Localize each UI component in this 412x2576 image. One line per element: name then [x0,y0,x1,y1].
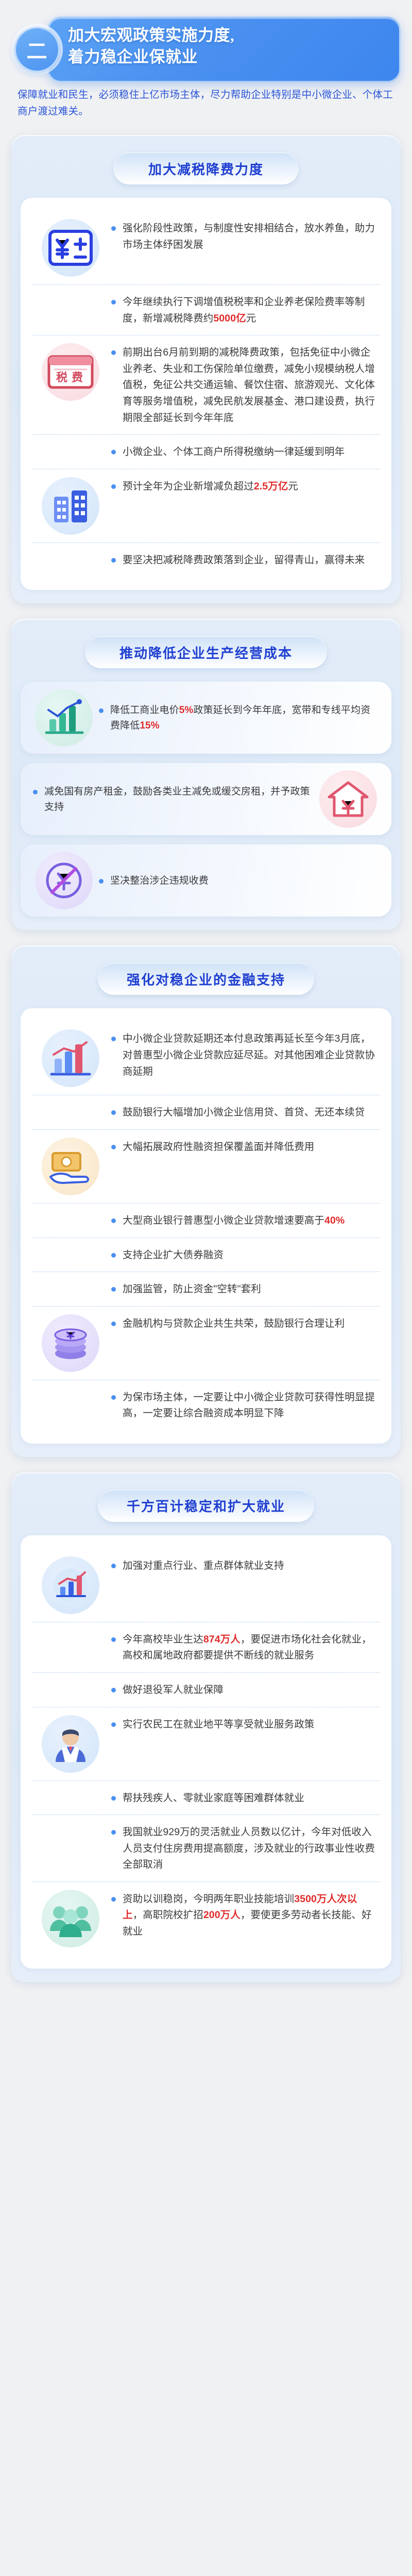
bullet-icon-slot: 税费 [32,344,109,400]
worker-suit-icon [50,1724,91,1764]
bullet-text: 加强监管，防止资金"空转"套利 [109,1280,380,1298]
bullet-text-segment: 做好退役军人就业保障 [123,1684,224,1696]
bullet-text: 支持企业扩大债券融资 [109,1246,380,1264]
bullet-text: 小微企业、个体工商户所得税缴纳一律延缓到明年 [109,443,380,461]
bullet-text: 鼓励银行大幅增加小微企业信用贷、首贷、无还本续贷 [109,1104,380,1121]
bullet-row: 中小微企业贷款延期还本付息政策再延长至今年3月底，对普惠型小微企业贷款应延尽延。… [32,1022,380,1095]
bullet-text-segment: ，高职院校扩招 [133,1909,203,1921]
bullet-row: 降低工商业电价5%政策延长到今年年底，宽带和专线平均资费降低15% [21,682,391,754]
bullet-row: 预计全年为企业新增减负超过2.5万亿元 [32,469,380,543]
bullet-icon-slot [32,478,109,534]
bullet-text-segment: 加强监管，防止资金"空转"套利 [123,1283,261,1295]
section-body: 中小微企业贷款延期还本付息政策再延长至今年3月底，对普惠型小微企业贷款应延尽延。… [21,1008,391,1443]
bullet-icon-slot [32,219,109,276]
bullet-text: 实行农民工在就业地平等享受就业服务政策 [109,1716,380,1733]
bullet-text: 预计全年为企业新增减负超过2.5万亿元 [109,478,380,495]
bullet-text: 为保市场主体，一定要让中小微企业贷款可获得性明显提高，一定要让综合融资成本明显下… [109,1388,380,1422]
bullet-icon-slot [32,1890,109,1947]
bullet-text-segment: 要坚决把减税降费政策落到企业，留得青山，赢得未来 [123,554,365,566]
no-fee-icon [44,860,84,901]
bullet-text-segment: 小微企业、个体工商户所得税缴纳一律延缓到明年 [123,446,345,457]
bullet-text: 帮扶残疾人、零就业家庭等困难群体就业 [109,1789,380,1807]
bullet-text: 金融机构与贷款企业共生共荣，鼓励银行合理让利 [109,1315,380,1332]
bullet-row: 金融机构与贷款企业共生共荣，鼓励银行合理让利 [32,1306,380,1380]
bullet-row: 加强对重点行业、重点群体就业支持 [32,1549,380,1622]
sections-container: 加大减税降费力度 强化阶段性政策，与制度性安排相结合，放水养鱼，助力市场主体纾困… [0,135,412,1982]
bullet-text: 减免国有房产租金，鼓励各类业主减免或缓交房租，并予政策支持 [31,783,315,816]
growth-chart-icon [49,1566,92,1604]
section-body: 降低工商业电价5%政策延长到今年年底，宽带和专线平均资费降低15% 减免国有房产… [21,682,391,917]
bullet-text: 降低工商业电价5%政策延长到今年年底，宽带和专线平均资费降低15% [97,702,381,735]
bullet-text: 做好退役军人就业保障 [109,1681,380,1699]
bullet-text-segment: 坚决整治涉企违规收费 [110,875,209,886]
bullet-text-segment: 减免国有房产租金，鼓励各类业主减免或缓交房租，并予政策支持 [44,786,310,813]
bullet-row: 帮扶残疾人、零就业家庭等困难群体就业 [32,1781,380,1815]
section-body: 强化阶段性政策，与制度性安排相结合，放水养鱼，助力市场主体纾困发展今年继续执行下… [21,198,391,590]
bullet-text-segment: 大幅拓展政府性融资担保覆盖面并降低费用 [123,1141,314,1153]
bullet-row: 税费 前期出台6月前到期的减税降费政策，包括免征中小微企业养老、失业和工伤保险单… [32,335,380,434]
bullet-text-segment: 强化阶段性政策，与制度性安排相结合，放水养鱼，助力市场主体纾困发展 [123,223,375,250]
bullet-row: 大型商业银行普惠型小微企业贷款增速要高于40% [32,1203,380,1238]
bullet-text: 我国就业929万的灵活就业人员数以亿计，今年对低收入人员支付住房费用提高额度，涉… [109,1823,380,1873]
bullet-row: 今年继续执行下调增值税税率和企业养老保险费率等制度，新增减税降费约5000亿元 [32,284,380,335]
bullet-icon-slot [315,773,381,825]
bullet-text: 资助以训稳岗，今明两年职业技能培训3500万人次以上，高职院校扩招200万人，要… [109,1890,380,1940]
section-card: 加大减税降费力度 强化阶段性政策，与制度性安排相结合，放水养鱼，助力市场主体纾困… [11,135,401,603]
bullet-row: 实行农民工在就业地平等享受就业服务政策 [32,1707,380,1781]
bullet-text-segment: 支持企业扩大债券融资 [123,1249,224,1261]
bullet-icon-slot [32,1716,109,1772]
bullet-text: 前期出台6月前到期的减税降费政策，包括免征中小微企业养老、失业和工伤保险单位缴费… [109,344,380,426]
page-title-line2: 着力稳企业保就业 [68,46,394,68]
bullet-row: 今年高校毕业生达874万人，要促进市场化社会化就业，高校和属地政府都要提供不断线… [32,1622,380,1672]
bullet-text-segment: 金融机构与贷款企业共生共荣，鼓励银行合理让利 [123,1318,345,1329]
bullet-row: 强化阶段性政策，与制度性安排相结合，放水养鱼，助力市场主体纾困发展 [32,211,380,284]
page-title-line1: 加大宏观政策实施力度, [68,25,394,46]
bullet-text-segment: 加强对重点行业、重点群体就业支持 [123,1560,284,1571]
section-card: 强化对稳企业的金融支持 中小微企业贷款延期还本付息政策再延长至今年3月底，对普惠… [11,945,401,1456]
bullet-text: 今年继续执行下调增值税税率和企业养老保险费率等制度，新增减税降费约5000亿元 [109,293,380,327]
bullet-text-segment: 降低工商业电价 [110,705,179,716]
coins-yen-icon [50,1324,91,1363]
page-title: 加大宏观政策实施力度, 着力稳企业保就业 [68,25,394,68]
bullet-icon-slot [32,1030,109,1087]
section-card: 千方百计稳定和扩大就业 加强对重点行业、重点群体就业支持今年高校毕业生达874万… [11,1472,401,1982]
section-body: 加强对重点行业、重点群体就业支持今年高校毕业生达874万人，要促进市场化社会化就… [21,1535,391,1969]
bullet-row: 减免国有房产租金，鼓励各类业主减免或缓交房租，并予政策支持 [21,763,391,835]
bullet-text-segment: 帮扶残疾人、零就业家庭等困难群体就业 [123,1792,304,1804]
training-group-icon [47,1899,94,1938]
section-title: 千方百计稳定和扩大就业 [98,1490,314,1522]
bullet-text-segment: 前期出台6月前到期的减税降费政策，包括免征中小微企业养老、失业和工伤保险单位缴费… [123,347,375,423]
bullet-text-segment: 元 [246,313,256,324]
house-rent-icon [326,779,370,819]
bullet-icon-slot [32,1315,109,1371]
bullet-row: 加强监管，防止资金"空转"套利 [32,1272,380,1306]
bullet-text: 大型商业银行普惠型小微企业贷款增速要高于40% [109,1212,380,1229]
bullet-row: 坚决整治涉企违规收费 [21,844,391,917]
bullet-text-segment: 为保市场主体，一定要让中小微企业贷款可获得性明显提高，一定要让综合融资成本明显下… [123,1392,375,1419]
highlight-value: 200万人 [203,1909,241,1921]
highlight-value: 5% [179,705,194,716]
section-card: 推动降低企业生产经营成本 降低工商业电价5%政策延长到今年年底，宽带和专线平均资… [11,619,401,930]
section-title: 强化对稳企业的金融支持 [98,963,314,995]
bullet-text-segment: 中小微企业贷款延期还本付息政策再延长至今年3月底，对普惠型小微企业贷款应延尽延。… [123,1033,375,1077]
bullet-text-segment: 鼓励银行大幅增加小微企业信用贷、首贷、无还本续贷 [123,1107,365,1118]
highlight-value: 40% [324,1215,345,1226]
bullet-text: 大幅拓展政府性融资担保覆盖面并降低费用 [109,1138,380,1156]
bullet-text-segment: 我国就业929万的灵活就业人员数以亿计，今年对低收入人员支付住房费用提高额度，涉… [123,1826,375,1870]
highlight-value: 15% [140,720,159,731]
section-number-badge: 二 [14,27,60,72]
bullet-row: 做好退役军人就业保障 [32,1672,380,1707]
section-title: 加大减税降费力度 [113,152,299,184]
bullet-row: 鼓励银行大幅增加小微企业信用贷、首贷、无还本续贷 [32,1095,380,1129]
bullet-icon-slot [31,855,97,906]
bullet-text-segment: 预计全年为企业新增减负超过 [123,481,254,492]
highlight-value: 2.5万亿 [254,481,288,492]
bullet-text: 今年高校毕业生达874万人，要促进市场化社会化就业，高校和属地政府都要提供不断线… [109,1631,380,1664]
section-title: 推动降低企业生产经营成本 [85,636,327,668]
page-header: 二 加大宏观政策实施力度, 着力稳企业保就业 [0,0,412,90]
bullet-text-segment: 实行农民工在就业地平等享受就业服务政策 [123,1719,314,1730]
bullet-text: 要坚决把减税降费政策落到企业，留得青山，赢得未来 [109,551,380,569]
bullet-icon-slot [32,1138,109,1195]
svg-text:税: 税 [56,371,67,384]
money-hand-icon [47,1148,94,1185]
bullet-row: 大幅拓展政府性融资担保覆盖面并降低费用 [32,1129,380,1203]
bullet-text-segment: 资助以训稳岗，今明两年职业技能培训 [123,1893,294,1905]
page-subtitle: 保障就业和民生，必须稳住上亿市场主体，尽力帮助企业特别是中小微企业、个体工商户渡… [0,87,412,120]
bullet-row: 小微企业、个体工商户所得税缴纳一律延缓到明年 [32,434,380,469]
bullet-row: 为保市场主体，一定要让中小微企业贷款可获得性明显提高，一定要让综合融资成本明显下… [32,1380,380,1430]
svg-text:费: 费 [72,371,83,384]
building-tax-icon [50,486,91,526]
bullet-text-segment: 大型商业银行普惠型小微企业贷款增速要高于 [123,1215,324,1226]
calculator-yen-icon [48,230,93,266]
highlight-value: 5000亿 [213,313,246,324]
bullet-row: 资助以训稳岗，今明两年职业技能培训3500万人次以上，高职院校扩招200万人，要… [32,1882,380,1955]
bullet-icon-slot [32,1557,109,1614]
bullet-text: 加强对重点行业、重点群体就业支持 [109,1557,380,1574]
bullet-icon-slot [31,692,97,743]
bank-chart-icon [48,1039,93,1077]
bullet-text: 中小微企业贷款延期还本付息政策再延长至今年3月底，对普惠型小微企业贷款应延尽延。… [109,1030,380,1080]
highlight-value: 874万人 [203,1634,241,1645]
bullet-text-segment: 今年高校毕业生达 [123,1634,203,1645]
bullet-text-segment: 元 [288,481,298,492]
tax-card-icon: 税费 [47,352,94,392]
bullet-row: 要坚决把减税降费政策落到企业，留得青山，赢得未来 [32,543,380,577]
bullet-text: 强化阶段性政策，与制度性安排相结合，放水养鱼，助力市场主体纾困发展 [109,219,380,253]
bullet-row: 我国就业929万的灵活就业人员数以亿计，今年对低收入人员支付住房费用提高额度，涉… [32,1815,380,1882]
bullet-row: 支持企业扩大债券融资 [32,1238,380,1272]
bullet-text: 坚决整治涉企违规收费 [97,872,381,889]
chart-down-cost-icon [42,699,85,737]
